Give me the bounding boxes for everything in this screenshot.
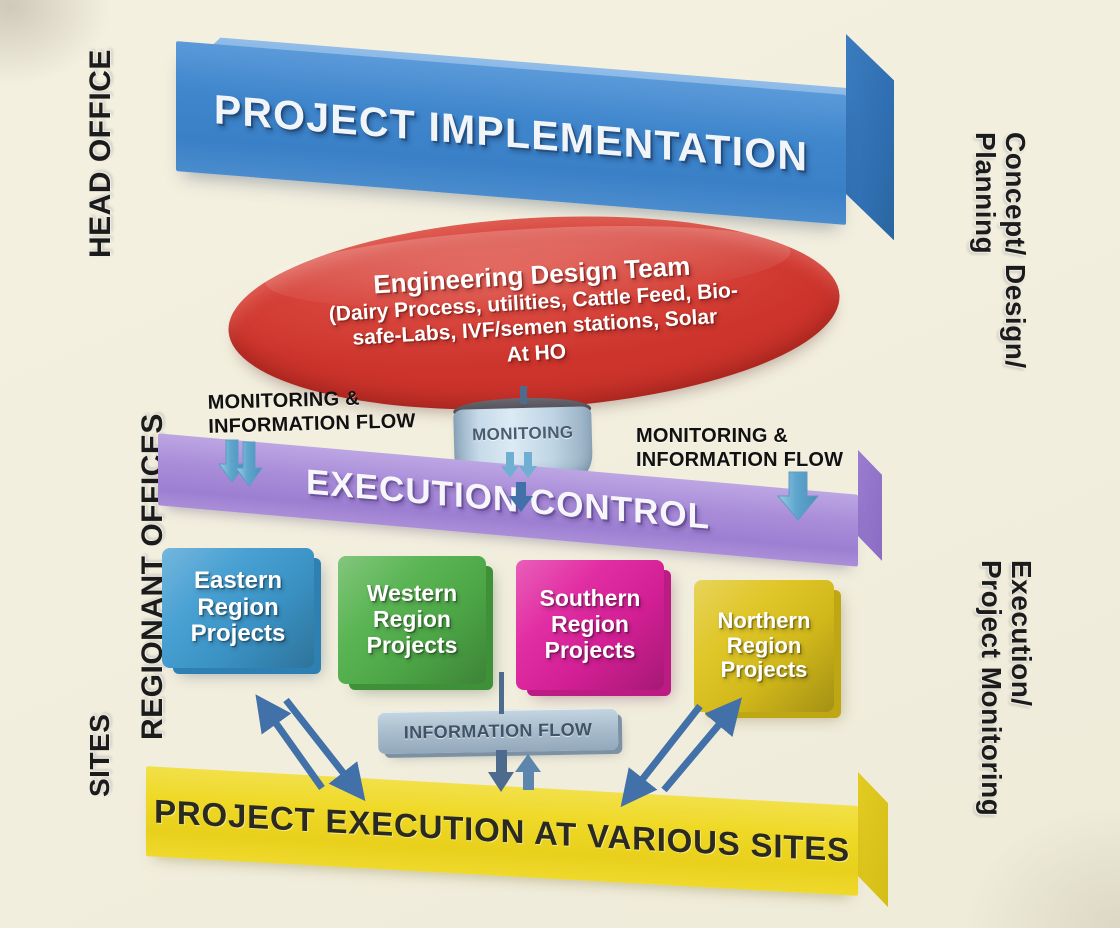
label-execution-line-1: Execution/	[1006, 560, 1036, 816]
southern-line-1: Southern	[540, 586, 641, 612]
southern-line-3: Projects	[540, 638, 641, 664]
diagram-canvas: HEAD OFFICE REGIONANT OFFICES SITES Conc…	[0, 0, 1120, 928]
ellipse-engineering-design-team: Engineering Design Team (Dairy Process, …	[228, 218, 840, 408]
label-concept-line-1: Concept/ Design/	[1000, 132, 1030, 369]
banner-side-face	[846, 34, 894, 240]
cube-western-region-projects: Western Region Projects	[338, 556, 486, 684]
execution-bar-side-face	[858, 450, 882, 561]
cube-eastern-region-projects: Eastern Region Projects	[162, 548, 314, 668]
banner-project-execution-at-various-sites: PROJECT EXECUTION AT VARIOUS SITES	[146, 772, 898, 908]
cube-northern-region-projects: Northern Region Projects	[694, 580, 834, 712]
northern-line-1: Northern	[718, 609, 811, 634]
eastern-line-1: Eastern	[191, 568, 286, 595]
annotation-left-line-2: INFORMATION FLOW	[208, 409, 416, 439]
northern-line-3: Projects	[718, 658, 811, 683]
label-concept-design-planning: Concept/ Design/ Planning	[970, 132, 1030, 369]
box-information-flow: INFORMATION FLOW	[378, 708, 619, 754]
label-execution-project-monitoring: Execution/ Project Monitoring	[976, 560, 1036, 816]
bottom-banner-front-face	[146, 766, 858, 896]
information-flow-label: INFORMATION FLOW	[404, 719, 593, 743]
eastern-line-2: Region	[191, 595, 286, 622]
annotation-right-line-1: MONITORING &	[636, 424, 843, 448]
eastern-line-3: Projects	[191, 621, 286, 648]
banner-project-implementation: PROJECT IMPLEMENTATION	[176, 34, 888, 234]
execution-bar-front-face	[158, 433, 858, 566]
label-head-office: HEAD OFFICE	[84, 49, 118, 258]
bottom-banner-side-face	[858, 772, 888, 907]
label-concept-line-2: Planning	[970, 132, 1000, 369]
western-line-2: Region	[367, 607, 458, 633]
cube-southern-region-projects: Southern Region Projects	[516, 560, 664, 690]
label-execution-line-2: Project Monitoring	[976, 560, 1006, 816]
northern-line-2: Region	[718, 634, 811, 659]
southern-line-2: Region	[540, 612, 641, 638]
arrow-cubes-to-information-flow	[499, 672, 504, 714]
western-line-1: Western	[367, 581, 458, 607]
annotation-left-monitoring-flow: MONITORING & INFORMATION FLOW	[207, 385, 415, 439]
label-sites: SITES	[84, 714, 116, 797]
western-line-3: Projects	[367, 633, 458, 659]
banner-front-face	[176, 41, 846, 225]
cylinder-monitoring-label: MONITOING	[452, 422, 594, 446]
